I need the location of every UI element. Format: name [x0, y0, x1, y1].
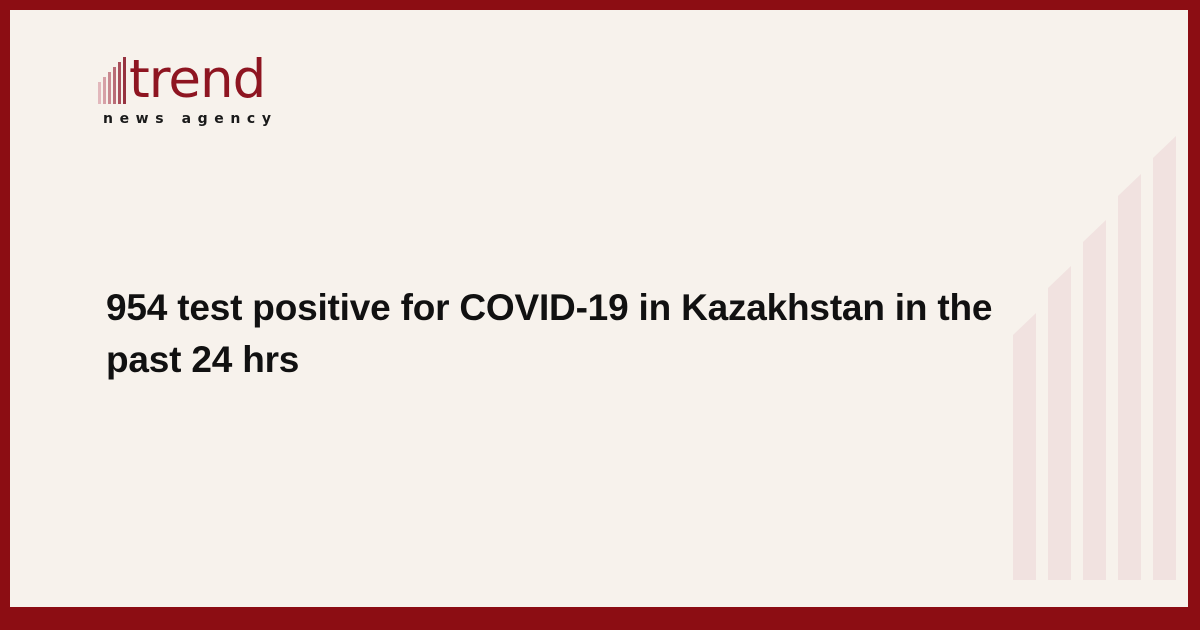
watermark-bar	[1048, 288, 1071, 580]
logo-tagline: news agency	[103, 111, 328, 127]
ascending-bars-logo-mark-icon	[98, 57, 128, 104]
trend-news-agency-logo[interactable]: trend news agency	[98, 48, 328, 127]
watermark-bar	[1083, 242, 1106, 580]
logo-wordmark-row: trend	[98, 48, 328, 106]
logo-wordmark: trend	[129, 53, 265, 106]
card-canvas: trend news agency 954 test positive for …	[10, 10, 1188, 607]
watermark-bar	[1153, 158, 1176, 580]
article-headline: 954 test positive for COVID-19 in Kazakh…	[106, 282, 1036, 386]
social-share-card: trend news agency 954 test positive for …	[0, 0, 1200, 630]
watermark-bar	[1118, 196, 1141, 580]
